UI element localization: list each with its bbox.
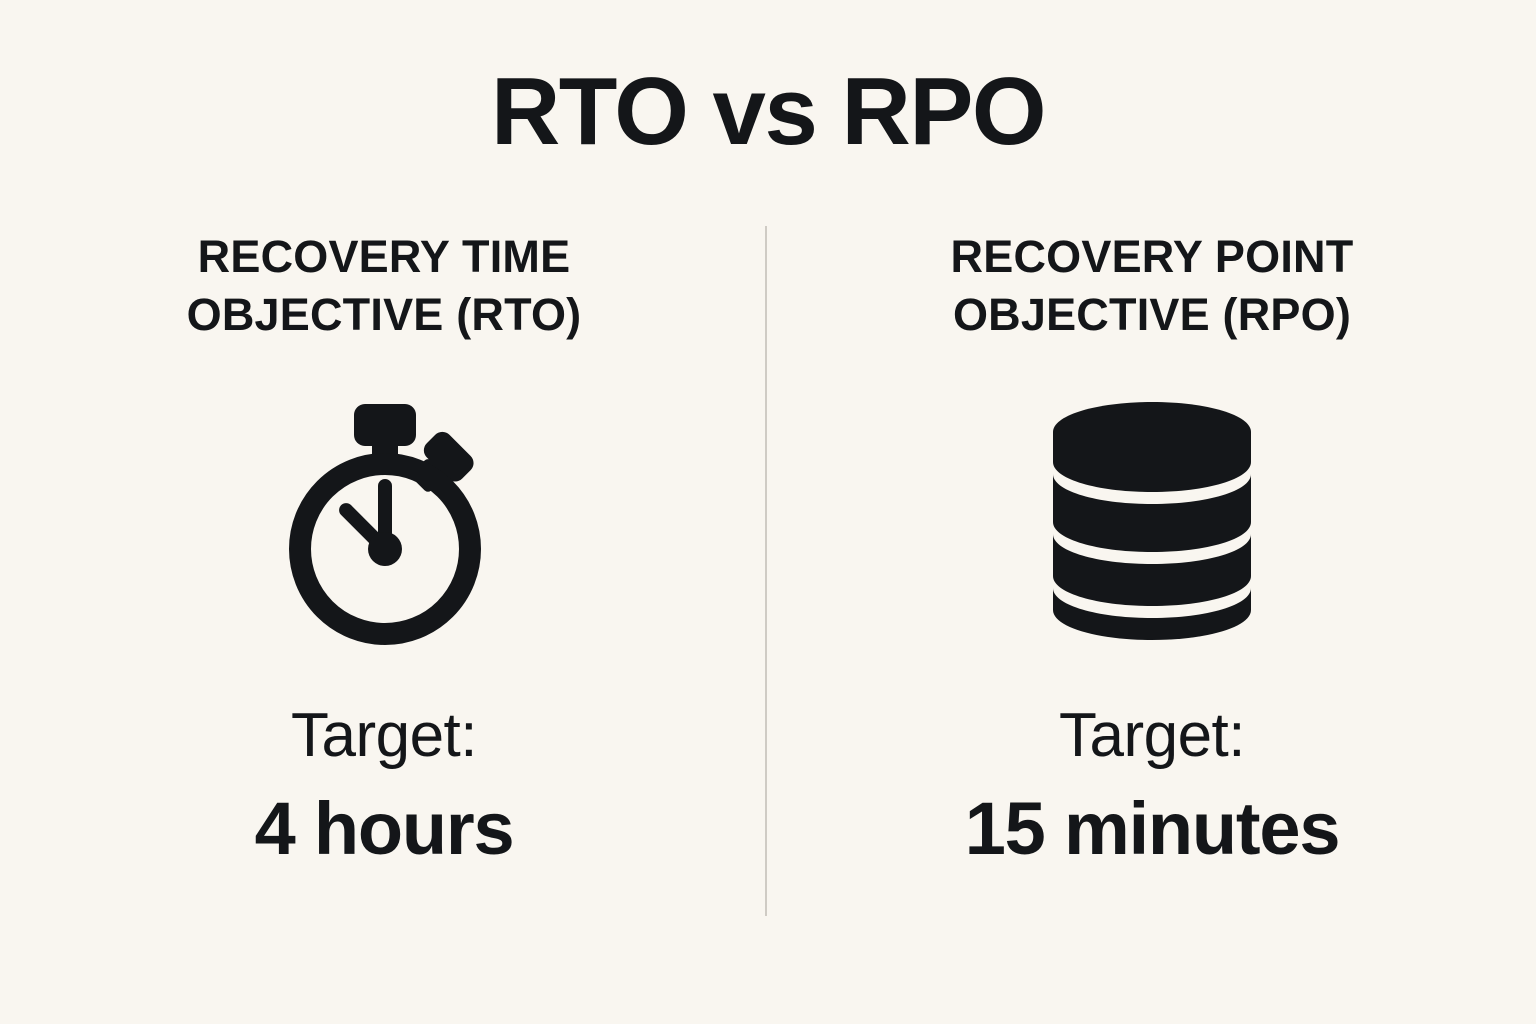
target-label-rpo: Target:	[1059, 703, 1245, 768]
column-heading-rto: RECOVERY TIME OBJECTIVE (RTO)	[147, 228, 622, 343]
column-heading-rto-line2: OBJECTIVE (RTO)	[187, 289, 582, 340]
page-title: RTO vs RPO	[0, 62, 1536, 163]
target-value-rto: 4 hours	[255, 790, 514, 868]
column-rpo: RECOVERY POINT OBJECTIVE (RPO) T	[768, 228, 1536, 928]
column-heading-rpo-line1: RECOVERY POINT	[951, 231, 1354, 282]
column-rto: RECOVERY TIME OBJECTIVE (RTO)	[0, 228, 768, 928]
database-icon	[1044, 401, 1260, 641]
column-heading-rpo: RECOVERY POINT OBJECTIVE (RPO)	[911, 228, 1394, 343]
target-label-rto: Target:	[291, 703, 477, 768]
infographic-canvas: RTO vs RPO RECOVERY TIME OBJECTIVE (RTO)	[0, 0, 1536, 1024]
column-heading-rpo-line2: OBJECTIVE (RPO)	[953, 289, 1351, 340]
comparison-columns: RECOVERY TIME OBJECTIVE (RTO)	[0, 228, 1536, 928]
target-value-rpo: 15 minutes	[965, 790, 1340, 868]
column-heading-rto-line1: RECOVERY TIME	[198, 231, 571, 282]
stopwatch-icon	[276, 401, 492, 641]
